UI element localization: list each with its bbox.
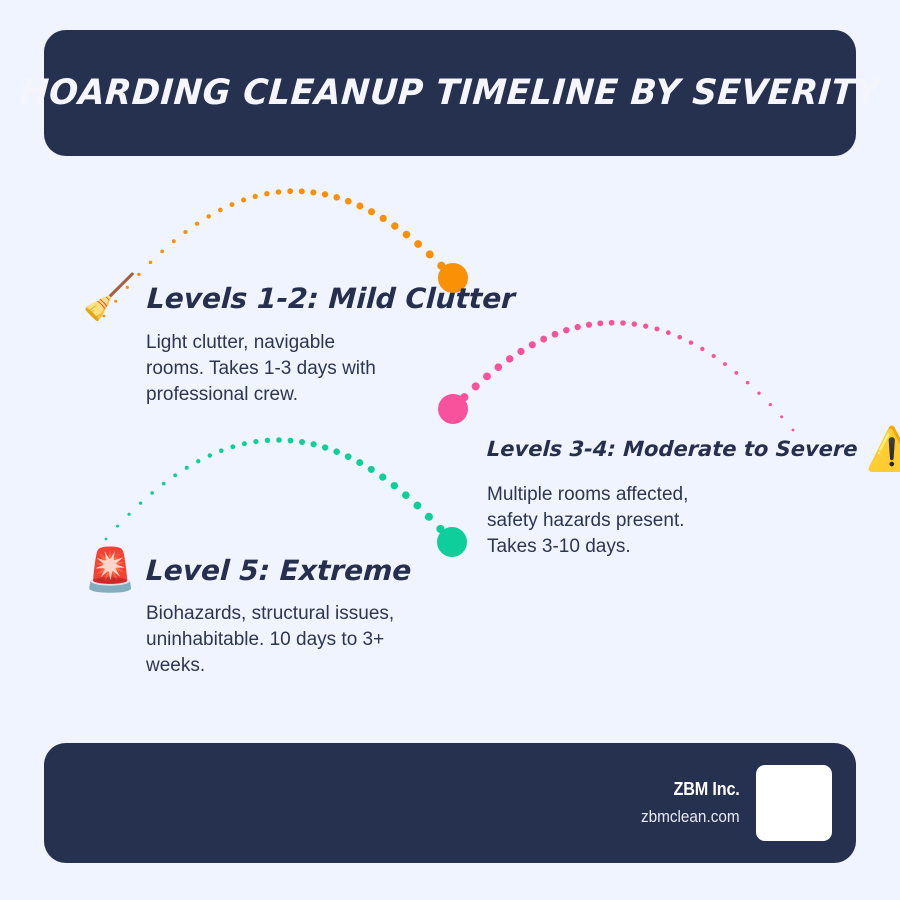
arc-dot <box>379 473 386 480</box>
arc-dot <box>311 441 317 447</box>
arc-dot <box>242 441 247 446</box>
arc-dot <box>425 513 433 521</box>
arc-dot <box>666 330 671 335</box>
arc-dot <box>299 188 305 194</box>
arc-dot <box>402 491 410 499</box>
footer-content: ZBM Inc. zbmclean.com <box>630 743 832 863</box>
arc-dot <box>368 466 375 473</box>
arc-dot <box>345 198 352 205</box>
arc-dot <box>746 381 750 385</box>
arc-dot <box>414 240 422 248</box>
arc-dot <box>116 525 119 528</box>
arc-dot <box>276 437 282 443</box>
arc-dot <box>391 222 398 229</box>
infographic-canvas: HOARDING CLEANUP TIMELINE BY SEVERITY 🧹 … <box>0 0 900 900</box>
arc-dot <box>105 538 108 541</box>
arc-dot <box>391 482 398 489</box>
arc-dot <box>218 208 223 213</box>
arc-dot <box>517 348 524 355</box>
arc-dot <box>253 439 258 444</box>
step-header: 🚨 Level 5: Extreme <box>84 549 412 591</box>
warning-icon: ⚠️ <box>866 428 900 470</box>
timeline-step-levels-1-2: 🧹 Levels 1-2: Mild Clutter Light clutter… <box>82 276 515 409</box>
arc-dot <box>700 347 704 351</box>
arc-dot <box>356 203 363 210</box>
arc-dot <box>241 197 246 202</box>
arc-dot <box>345 453 352 460</box>
arc-dot <box>403 231 411 239</box>
timeline-step-levels-3-4: Levels 3-4: Moderate to Severe ⚠️ Multip… <box>487 428 827 561</box>
arc-dot <box>288 438 294 444</box>
arc-dot <box>540 336 547 343</box>
step-title-level-5: Level 5: Extreme <box>145 554 412 587</box>
arc-dot <box>643 324 648 329</box>
header-banner: HOARDING CLEANUP TIMELINE BY SEVERITY <box>44 30 856 156</box>
arc-dot <box>632 321 637 326</box>
arc-dot <box>552 331 559 338</box>
arc-dot <box>563 327 570 334</box>
company-name: ZBM Inc. <box>641 779 740 800</box>
step-title-levels-1-2: Levels 1-2: Mild Clutter <box>146 282 516 315</box>
arc-dot <box>322 191 328 197</box>
arc-dot <box>769 403 772 406</box>
arc-dot <box>299 439 305 445</box>
arc-dot <box>712 354 716 358</box>
arc-dot <box>575 324 581 330</box>
step-header: 🧹 Levels 1-2: Mild Clutter <box>82 276 515 320</box>
step-header: Levels 3-4: Moderate to Severe ⚠️ <box>487 428 827 470</box>
arc-dot <box>150 491 154 495</box>
arc-dot <box>230 444 235 449</box>
arc-dot <box>529 341 536 348</box>
arc-dot <box>689 340 693 344</box>
arc-dot <box>333 194 340 201</box>
arc-dot <box>654 326 659 331</box>
arc-dot <box>586 322 592 328</box>
arc-dot <box>206 214 210 218</box>
arc-dot <box>276 189 282 195</box>
step-body-levels-1-2: Light clutter, navigable rooms. Takes 1-… <box>146 330 515 409</box>
arc-teal <box>105 437 467 557</box>
footer-text-block: ZBM Inc. zbmclean.com <box>630 779 740 827</box>
logo-placeholder <box>756 765 832 841</box>
arc-dot <box>127 513 130 516</box>
arc-dot <box>149 261 153 265</box>
arc-dot <box>173 473 177 477</box>
arc-dot <box>219 448 224 453</box>
arc-dot <box>333 448 340 455</box>
step-body-level-5: Biohazards, structural issues, uninhabit… <box>146 601 412 680</box>
arc-dot <box>196 459 200 463</box>
step-body-levels-3-4: Multiple rooms affected, safety hazards … <box>487 482 827 561</box>
arc-dot <box>183 230 187 234</box>
arc-dot <box>265 438 270 443</box>
arc-dot <box>413 502 421 510</box>
arc-dot <box>436 525 444 533</box>
arc-dot <box>734 371 738 375</box>
arc-dot <box>310 189 316 195</box>
arc-dot <box>322 444 328 450</box>
arc-dot <box>757 391 760 394</box>
arc-dot <box>160 249 164 253</box>
arc-dot <box>356 459 363 466</box>
arc-dot <box>368 208 375 215</box>
arc-dot <box>287 188 293 194</box>
arc-dot <box>437 262 445 270</box>
arc-dot <box>185 466 189 470</box>
arc-dot <box>620 320 626 326</box>
timeline-step-level-5: 🚨 Level 5: Extreme Biohazards, structura… <box>84 549 412 680</box>
arc-dot <box>253 194 258 199</box>
arc-dot <box>172 239 176 243</box>
rotating-light-icon: 🚨 <box>84 549 136 591</box>
arc-dot <box>677 335 682 340</box>
page-title: HOARDING CLEANUP TIMELINE BY SEVERITY <box>19 73 882 113</box>
arc-dot <box>426 250 434 258</box>
arc-dot <box>448 538 456 546</box>
timeline-marker-dot <box>437 527 467 557</box>
arc-dot <box>139 501 142 504</box>
arc-dot <box>723 362 727 366</box>
arc-dot <box>208 453 212 457</box>
footer-banner: ZBM Inc. zbmclean.com <box>44 743 856 863</box>
arc-dot <box>162 482 166 486</box>
arc-dot <box>780 415 783 418</box>
arc-dot <box>195 222 199 226</box>
broom-icon: 🧹 <box>82 276 137 320</box>
arc-dot <box>230 202 235 207</box>
step-title-levels-3-4: Levels 3-4: Moderate to Severe <box>486 437 858 461</box>
company-website: zbmclean.com <box>641 807 740 827</box>
arc-dot <box>597 320 603 326</box>
arc-dot <box>380 215 387 222</box>
arc-dot <box>609 320 615 326</box>
arc-dot <box>264 191 269 196</box>
